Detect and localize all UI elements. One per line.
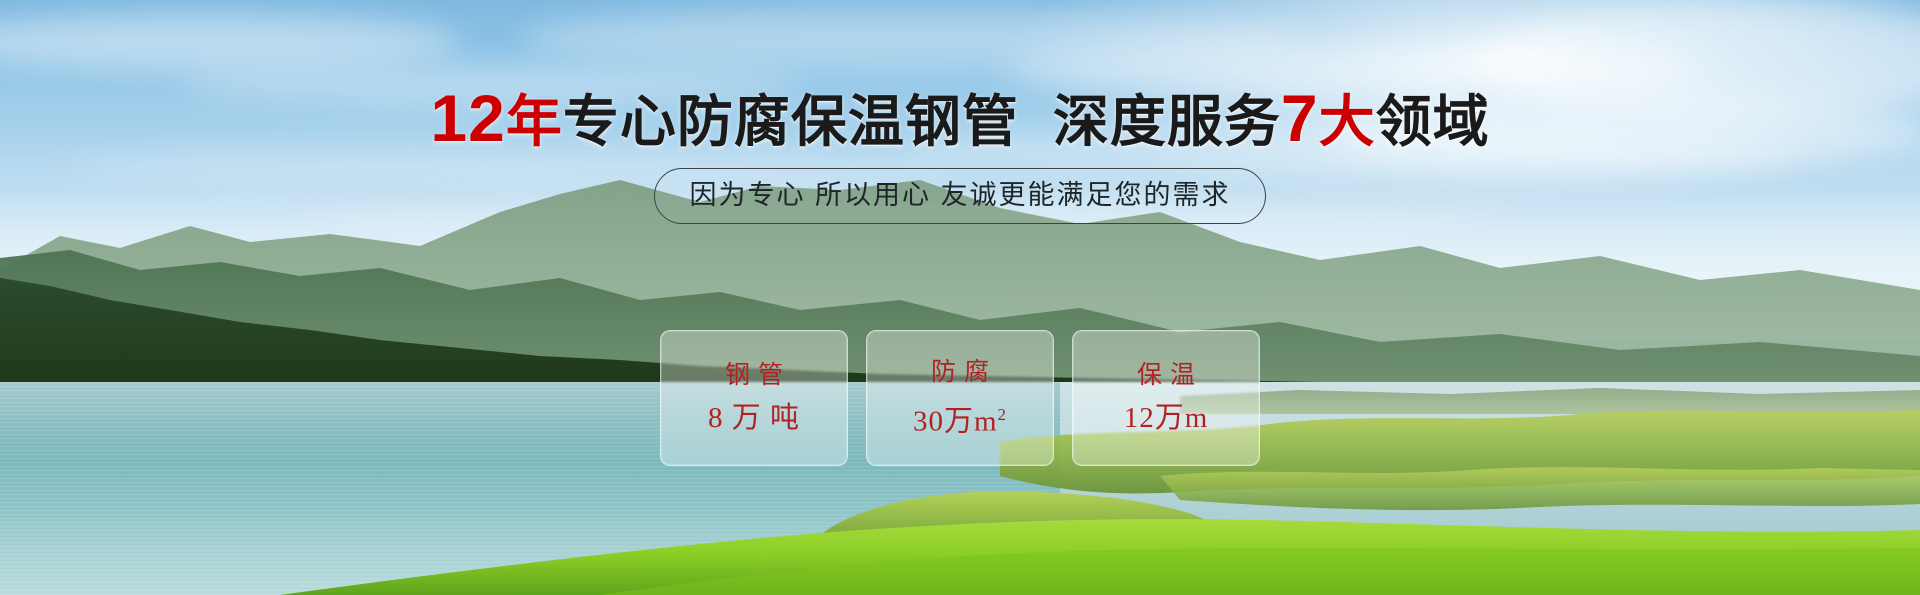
subtitle-pill: 因为专心 所以用心 友诚更能满足您的需求 (654, 168, 1265, 224)
headline-fields-text: 领域 (1376, 90, 1490, 153)
stat-card-value: 8 万 吨 (708, 402, 800, 434)
headline-years-number: 12 (430, 81, 505, 155)
stat-card-value-text: 8 万 吨 (708, 402, 800, 434)
headline-years-unit: 年 (506, 90, 563, 153)
stat-card-value-superscript: 2 (998, 405, 1008, 424)
headline-fields-unit: 大 (1319, 90, 1376, 153)
stat-card-title: 钢管 (717, 362, 791, 390)
subtitle-container: 因为专心 所以用心 友诚更能满足您的需求 (0, 168, 1920, 224)
stat-card-anticorrosion[interactable]: 防腐 30万m2 (866, 330, 1054, 466)
stat-card-value: 30万m2 (913, 399, 1007, 438)
hero-banner: 12年专心防腐保温钢管深度服务7大领域 因为专心 所以用心 友诚更能满足您的需求… (0, 0, 1920, 595)
stat-card-steel-pipe[interactable]: 钢管 8 万 吨 (660, 330, 848, 466)
headline-service-text: 深度服务 (1053, 90, 1281, 153)
page-title: 12年专心防腐保温钢管深度服务7大领域 (0, 86, 1920, 154)
headline-main-text: 专心防腐保温钢管 (563, 90, 1019, 153)
stat-card-value: 12万m (1124, 402, 1209, 434)
headline-fields-number: 7 (1281, 81, 1319, 155)
stat-card-insulation[interactable]: 保温 12万m (1072, 330, 1260, 466)
stat-card-title: 保温 (1129, 362, 1203, 390)
stat-card-title: 防腐 (923, 359, 997, 387)
stat-card-value-text: 30万m (913, 405, 998, 437)
stat-card-value-text: 12万m (1124, 402, 1209, 434)
